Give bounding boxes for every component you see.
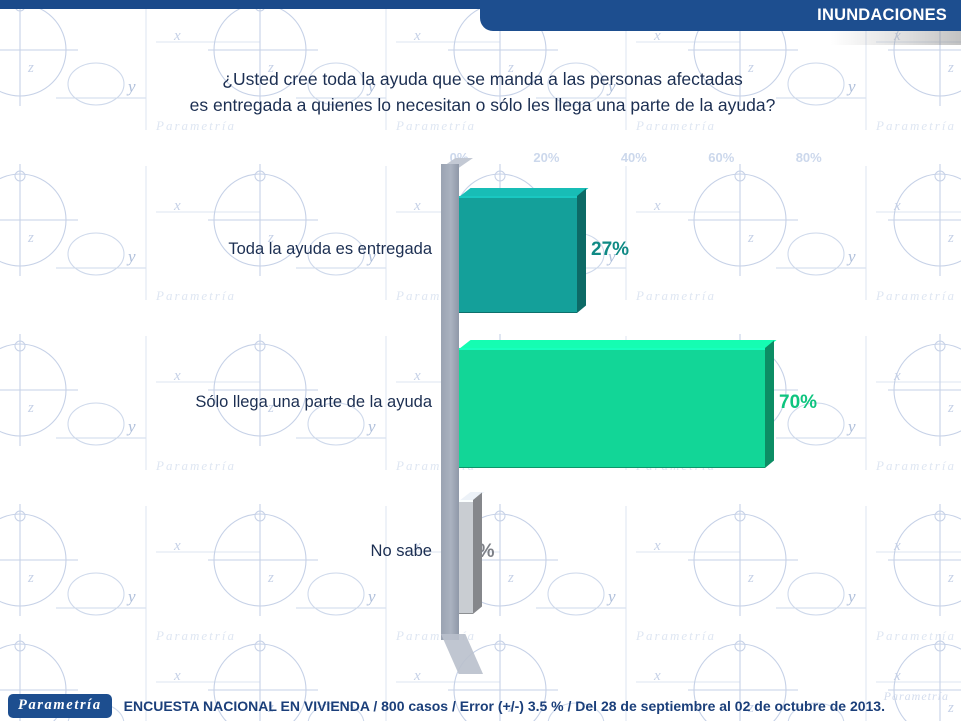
category-label-1: Toda la ayuda es entregada — [0, 240, 432, 259]
bar-3 — [459, 492, 473, 614]
x-axis-tick-40: 40% — [621, 150, 647, 165]
chart-floor — [441, 634, 483, 674]
footer-survey-info: ENCUESTA NACIONAL EN VIVIENDA / 800 caso… — [124, 698, 885, 714]
x-axis-tick-20: 20% — [533, 150, 559, 165]
x-axis-tick-labels: 0%20%40%60%80% — [0, 150, 961, 170]
question-line-1: ¿Usted cree toda la ayuda que se manda a… — [222, 69, 742, 89]
bar-1 — [459, 188, 577, 313]
x-axis-tick-80: 80% — [796, 150, 822, 165]
bar-side-face — [765, 340, 774, 468]
bar-chart: 0%20%40%60%80% 27%70%3% Toda la ayuda es… — [0, 140, 961, 670]
parametria-logo: Parametría — [8, 694, 112, 718]
footer: Parametría ENCUESTA NACIONAL EN VIVIENDA… — [0, 691, 961, 721]
bar-front-face — [459, 348, 765, 468]
question-line-2: es entregada a quienes lo necesitan o só… — [60, 92, 905, 118]
bar-2 — [459, 340, 765, 468]
bar-body — [459, 188, 577, 313]
category-label-3: No sabe — [0, 542, 432, 561]
bar-value-label-2: 70% — [779, 392, 817, 414]
header-banner: INUNDACIONES — [480, 0, 961, 31]
bar-body — [459, 340, 765, 468]
question-text: ¿Usted cree toda la ayuda que se manda a… — [60, 66, 905, 118]
bar-side-face — [473, 492, 482, 614]
page-title: INUNDACIONES — [817, 6, 947, 25]
category-label-2: Sólo llega una parte de la ayuda — [0, 393, 432, 412]
bar-front-face — [459, 500, 473, 614]
footer-watermark: Parametría — [884, 689, 949, 704]
chart-back-wall — [441, 164, 459, 640]
bar-front-face — [459, 196, 577, 313]
x-axis-tick-60: 60% — [708, 150, 734, 165]
bar-body — [459, 492, 473, 614]
header-banner-shadow — [495, 31, 961, 45]
bar-value-label-1: 27% — [591, 239, 629, 261]
bar-side-face — [577, 188, 586, 313]
